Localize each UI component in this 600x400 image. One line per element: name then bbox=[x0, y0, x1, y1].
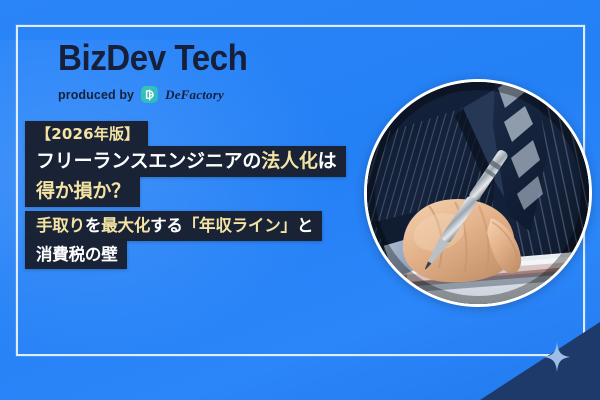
headline-segment: フリーランスエンジニアの bbox=[36, 150, 261, 172]
headline-segment: 【2026年版】 bbox=[36, 125, 139, 143]
photo-inner bbox=[367, 82, 589, 304]
brand-header: BizDev Tech produced by DeFactory bbox=[58, 40, 348, 103]
headline-line: 消費税の壁 bbox=[25, 240, 127, 270]
thumbnail-canvas: BizDev Tech produced by DeFactory 【2026年… bbox=[0, 0, 600, 400]
defactory-logo-icon bbox=[141, 86, 158, 103]
headline-line: 手取りを最大化する「年収ライン」と bbox=[25, 211, 322, 241]
businessman-writing-photo bbox=[364, 79, 592, 307]
headline-segment: を bbox=[85, 216, 101, 235]
produced-by-label: produced by bbox=[58, 88, 134, 102]
headline-segment: 消費税の壁 bbox=[36, 245, 118, 264]
four-point-star-icon bbox=[544, 342, 570, 372]
headline-segment: 最大化 bbox=[101, 216, 150, 235]
headline-segment: する bbox=[150, 216, 183, 235]
headline-segment: 「年収ライン」 bbox=[183, 216, 297, 235]
partner-name: DeFactory bbox=[165, 87, 224, 103]
headline-line: フリーランスエンジニアの法人化は bbox=[25, 146, 346, 177]
headline-segment: と bbox=[297, 216, 313, 235]
headline-segment: 得か損か？ bbox=[36, 180, 130, 202]
headline-block-secondary: 手取りを最大化する「年収ライン」と 消費税の壁 bbox=[25, 211, 322, 269]
headline-line: 【2026年版】 bbox=[25, 121, 148, 147]
headline-segment: 法人化 bbox=[261, 150, 317, 172]
headline-segment: 手取り bbox=[36, 216, 85, 235]
page-title: BizDev Tech bbox=[58, 40, 325, 76]
headline-segment: は bbox=[318, 150, 337, 172]
produced-by-row: produced by DeFactory bbox=[58, 86, 348, 103]
headline-line: 得か損か？ bbox=[25, 176, 140, 207]
headline-block-primary: 【2026年版】 フリーランスエンジニアの法人化は 得か損か？ bbox=[25, 121, 346, 207]
